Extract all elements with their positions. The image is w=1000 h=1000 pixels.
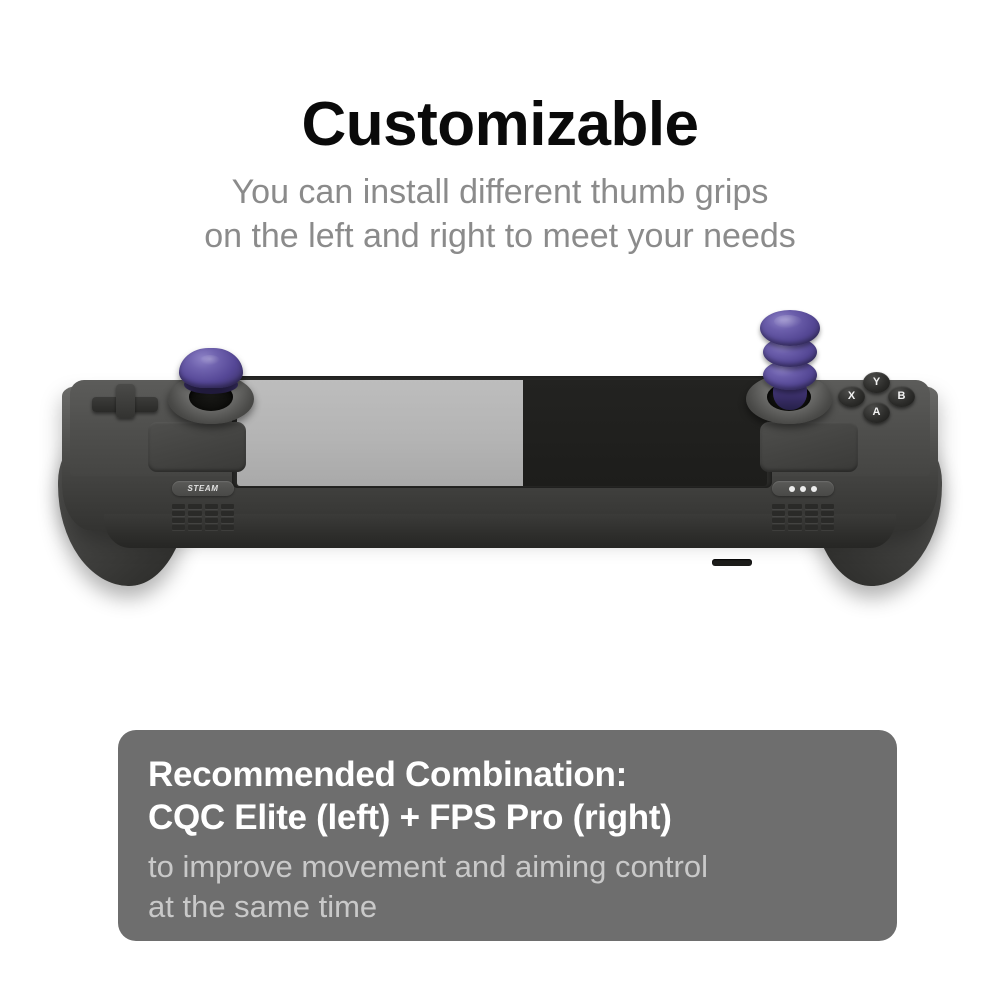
dot-icon-3 (811, 486, 817, 492)
right-speaker-grille (772, 504, 834, 530)
button-x-label: X (848, 391, 855, 402)
button-y[interactable]: Y (863, 372, 890, 393)
product-marketing-page: Customizable You can install different t… (0, 0, 1000, 1000)
recommendation-callout: Recommended Combination: CQC Elite (left… (118, 730, 897, 941)
callout-title: Recommended Combination: (148, 754, 867, 797)
left-speaker-grille (172, 504, 234, 530)
right-grip-highlight (774, 315, 802, 328)
face-button-cluster: Y X B A (836, 372, 916, 434)
steam-button[interactable]: STEAM (172, 481, 234, 496)
screen-surface (237, 380, 767, 486)
left-trackpad[interactable] (148, 422, 246, 472)
right-thumb-grip-fps-pro[interactable] (760, 310, 820, 416)
callout-combination: CQC Elite (left) + FPS Pro (right) (148, 797, 867, 840)
device-screen (232, 376, 772, 488)
button-b[interactable]: B (888, 386, 915, 407)
device-photo: Y X B A (0, 318, 1000, 648)
dpad[interactable] (92, 384, 158, 422)
bottom-vent-slot (712, 559, 752, 566)
left-grip-dome (179, 348, 243, 388)
left-grip-logo-icon (200, 355, 220, 365)
dot-icon-1 (789, 486, 795, 492)
header-block: Customizable You can install different t… (0, 92, 1000, 258)
button-x[interactable]: X (838, 386, 865, 407)
callout-heading: Recommended Combination: CQC Elite (left… (148, 754, 867, 839)
quick-access-menu-button[interactable] (772, 481, 834, 496)
button-y-label: Y (873, 377, 880, 388)
button-a[interactable]: A (863, 402, 890, 423)
screen-panel-dark (523, 380, 767, 486)
page-title: Customizable (0, 92, 1000, 157)
page-subtitle: You can install different thumb grips on… (0, 171, 1000, 258)
dpad-vertical-arm (116, 384, 135, 418)
callout-detail-line-1: to improve movement and aiming control (148, 847, 867, 887)
button-a-label: A (873, 407, 881, 418)
left-thumb-grip-cqc-elite[interactable] (179, 348, 243, 396)
steam-button-label: STEAM (188, 484, 219, 493)
dot-icon-2 (800, 486, 806, 492)
button-b-label: B (898, 391, 906, 402)
callout-detail-line-2: at the same time (148, 887, 867, 927)
callout-detail: to improve movement and aiming control a… (148, 847, 867, 926)
screen-panel-light (237, 380, 523, 486)
subtitle-line-2: on the left and right to meet your needs (0, 215, 1000, 259)
subtitle-line-1: You can install different thumb grips (0, 171, 1000, 215)
